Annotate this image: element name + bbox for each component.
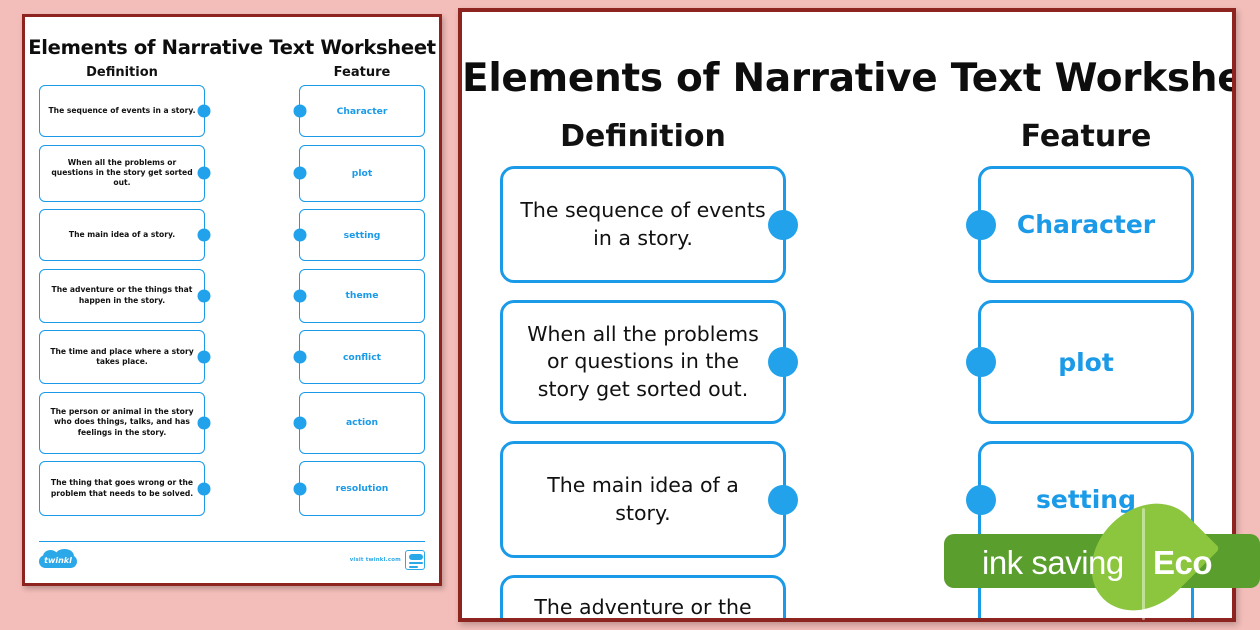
connector-knob-icon[interactable] [294,482,307,495]
definition-card-text: When all the problems or questions in th… [47,158,197,188]
definition-card[interactable]: The adventure or the things that happen … [39,269,205,323]
definition-card-text: When all the problems or questions in th… [519,321,767,403]
definition-card[interactable]: When all the problems or questions in th… [500,300,786,424]
connector-knob-icon[interactable] [966,620,996,622]
feature-card[interactable]: Character [299,85,425,137]
feature-card-text: theme [1041,621,1131,623]
connector-knob-icon[interactable] [198,351,211,364]
feature-card-text: resolution [336,483,389,494]
connector-knob-icon[interactable] [294,289,307,302]
connector-knob-icon[interactable] [294,167,307,180]
feature-card-text: setting [1036,485,1136,514]
twinkl-wordmark: twinkl [39,555,77,567]
feature-card[interactable]: Character [978,166,1194,283]
definition-card[interactable]: When all the problems or questions in th… [39,145,205,202]
definition-card[interactable]: The main idea of a story. [39,209,205,261]
columns-gap [205,85,299,516]
definition-card-text: The main idea of a story. [69,230,175,240]
footer-divider [39,541,425,543]
stamp-bar-shape [409,566,418,568]
twinkl-stamp-icon [405,550,425,570]
connector-knob-icon[interactable] [198,289,211,302]
connector-knob-icon[interactable] [966,485,996,515]
connector-knob-icon[interactable] [198,229,211,242]
column-heading-feature: Feature [978,119,1194,154]
twinkl-logo-icon[interactable]: twinkl [39,552,77,569]
stamp-bar-shape [409,562,423,564]
leaf-vein-shape [1142,508,1145,620]
definition-card-text: The adventure or the things that happen … [47,285,197,305]
visit-link-text[interactable]: visit twinkl.com [350,557,401,563]
feature-column: Character plot setting theme conflict ac… [299,85,425,516]
connector-knob-icon[interactable] [198,482,211,495]
feature-card-text: plot [1058,348,1114,377]
definition-card[interactable]: The sequence of events in a story. [500,166,786,283]
definition-column: The sequence of events in a story. When … [39,85,205,516]
column-heading-spacer [786,119,978,154]
definition-card-text: The sequence of events in a story. [519,197,767,252]
definition-card[interactable]: The sequence of events in a story. [39,85,205,137]
column-heading-definition: Definition [39,65,205,80]
definition-card[interactable]: The person or animal in the story who do… [39,392,205,454]
match-columns: The sequence of events in a story. When … [25,85,439,516]
definition-column: The sequence of events in a story. When … [500,166,786,622]
definition-card[interactable]: The adventure or the things that happen … [500,575,786,622]
column-heading-spacer [205,65,299,80]
definition-card[interactable]: The thing that goes wrong or the problem… [39,461,205,516]
connector-knob-icon[interactable] [966,347,996,377]
feature-card[interactable]: conflict [299,330,425,384]
definition-card-text: The thing that goes wrong or the problem… [47,478,197,498]
feature-card[interactable]: action [299,392,425,454]
feature-card-text: Character [337,106,388,117]
connector-knob-icon[interactable] [768,485,798,515]
connector-knob-icon[interactable] [966,210,996,240]
page-title: Elements of Narrative Text Worksheet [25,36,439,59]
feature-card[interactable]: plot [978,300,1194,424]
definition-card-text: The time and place where a story takes p… [47,347,197,367]
column-heading-feature: Feature [299,65,425,80]
definition-card[interactable]: The main idea of a story. [500,441,786,558]
definition-card-text: The sequence of events in a story. [48,106,195,116]
footer-row: twinkl visit twinkl.com [39,547,425,573]
connector-knob-icon[interactable] [768,347,798,377]
connector-knob-icon[interactable] [198,416,211,429]
definition-card-text: The adventure or the things that happen … [519,594,767,622]
connector-knob-icon[interactable] [768,210,798,240]
footer-visit-group[interactable]: visit twinkl.com [350,550,425,570]
definition-card-text: The main idea of a story. [519,472,767,527]
connector-knob-icon[interactable] [294,229,307,242]
definition-card-text: The person or animal in the story who do… [47,407,197,437]
column-heading-definition: Definition [500,119,786,154]
eco-label: Eco [1153,544,1212,582]
connector-knob-icon[interactable] [294,351,307,364]
connector-knob-icon[interactable] [198,105,211,118]
feature-card-text: action [346,417,378,428]
feature-card-text: setting [344,230,381,241]
worksheet-thumbnail-page[interactable]: Elements of Narrative Text Worksheet Def… [22,14,442,586]
column-headings-row: Definition Feature [25,65,439,80]
page-title: Elements of Narrative Text Worksheet [462,56,1232,101]
ink-saving-eco-badge: ink saving Eco [944,526,1260,596]
feature-card-text: plot [352,168,372,179]
feature-card-text: theme [346,290,379,301]
feature-card[interactable]: plot [299,145,425,202]
column-headings-row: Definition Feature [462,119,1232,154]
connector-knob-icon[interactable] [768,620,798,622]
definition-card[interactable]: The time and place where a story takes p… [39,330,205,384]
ink-saving-label: ink saving [982,544,1124,582]
page-footer: twinkl visit twinkl.com [39,541,425,574]
connector-knob-icon[interactable] [294,416,307,429]
connector-knob-icon[interactable] [198,167,211,180]
feature-card[interactable]: setting [299,209,425,261]
feature-card-text: Character [1017,210,1155,239]
stamp-cloud-shape [409,554,423,560]
feature-card-text: conflict [343,352,381,363]
connector-knob-icon[interactable] [294,105,307,118]
feature-card[interactable]: theme [299,269,425,323]
feature-card[interactable]: resolution [299,461,425,516]
